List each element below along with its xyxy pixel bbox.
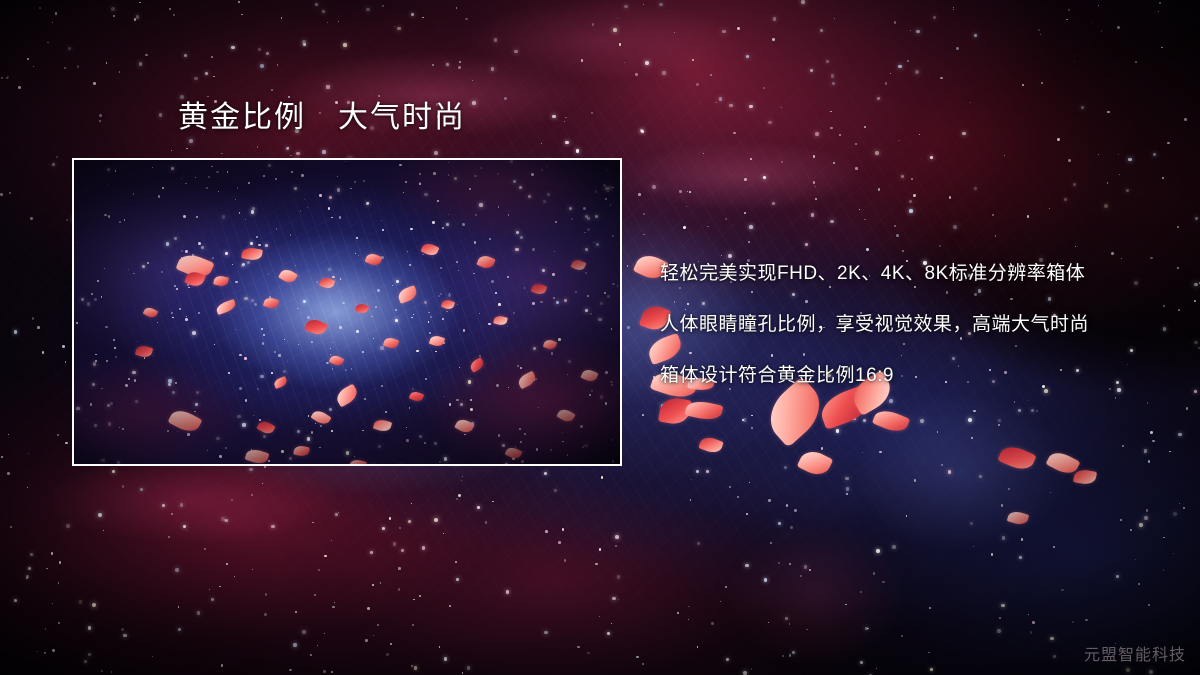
body-line-2: 人体眼睛瞳孔比例，享受视觉效果，高端大气时尚 xyxy=(660,309,1089,336)
preview-vignette xyxy=(74,160,620,464)
watermark-label: 元盟智能科技 xyxy=(1084,641,1186,665)
body-line-3: 箱体设计符合黄金比例16:9 xyxy=(660,360,1089,387)
page-title: 黄金比例 大气时尚 xyxy=(178,100,466,136)
body-copy: 轻松完美实现FHD、2K、4K、8K标准分辨率箱体 人体眼睛瞳孔比例，享受视觉效… xyxy=(660,258,1089,387)
body-line-1: 轻松完美实现FHD、2K、4K、8K标准分辨率箱体 xyxy=(660,258,1089,285)
framed-preview-image xyxy=(72,158,622,466)
slide-canvas: 黄金比例 大气时尚 轻松完美实现FHD、2K、4K、8K标准分辨率箱体 人体眼睛… xyxy=(0,0,1200,675)
